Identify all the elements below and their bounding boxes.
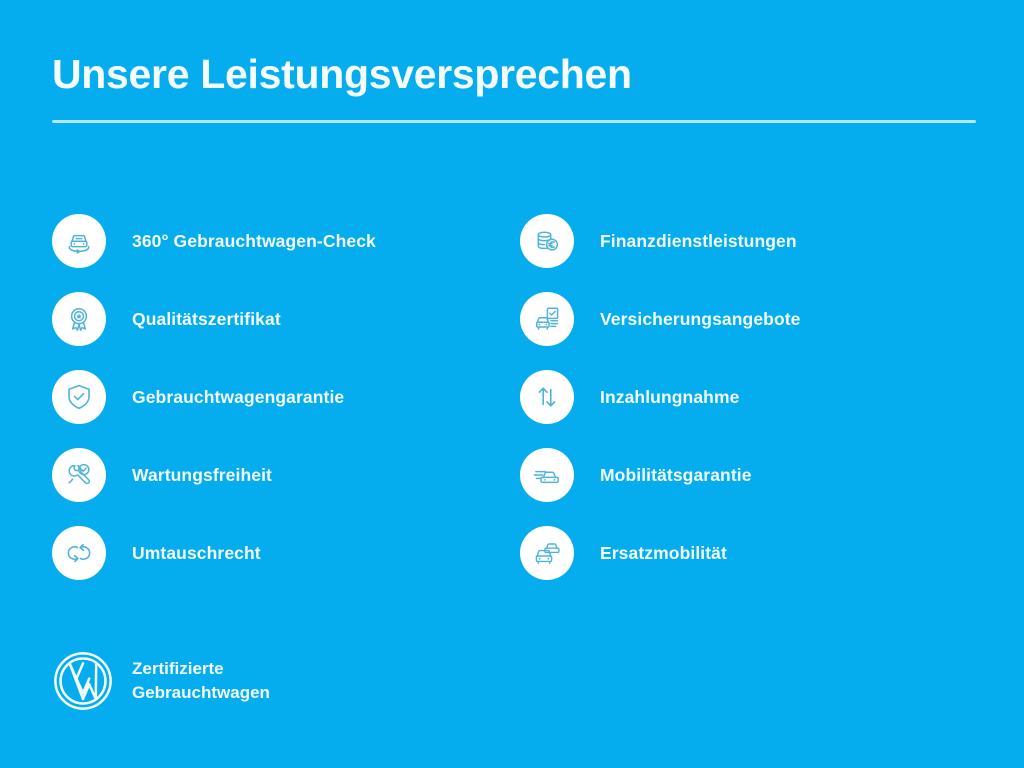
wrench-check-icon: [52, 448, 106, 502]
volkswagen-logo-icon: [52, 650, 114, 712]
two-cars-icon: [520, 526, 574, 580]
feature-grid: 360° Gebrauchtwagen-Check Finanzdienstle…: [52, 202, 982, 592]
page-title: Unsere Leistungsversprechen: [52, 52, 976, 98]
feature-item-used-car-warranty: Gebrauchtwagengarantie: [52, 358, 520, 436]
car-checklist-icon: [520, 292, 574, 346]
feature-label: 360° Gebrauchtwagen-Check: [132, 231, 376, 252]
feature-item-quality-certificate: Qualitätszertifikat: [52, 280, 520, 358]
exchange-arrows-icon: [52, 526, 106, 580]
car-speed-lines-icon: [520, 448, 574, 502]
coins-euro-icon: [520, 214, 574, 268]
feature-item-financial-services: Finanzdienstleistungen: [520, 202, 988, 280]
slide-header: Unsere Leistungsversprechen: [52, 52, 976, 123]
title-divider: [52, 120, 976, 123]
feature-label: Qualitätszertifikat: [132, 309, 281, 330]
feature-label: Gebrauchtwagengarantie: [132, 387, 344, 408]
feature-item-mobility-guarantee: Mobilitätsgarantie: [520, 436, 988, 514]
feature-label: Ersatzmobilität: [600, 543, 727, 564]
award-rosette-icon: [52, 292, 106, 346]
shield-check-icon: [52, 370, 106, 424]
feature-item-trade-in: Inzahlungnahme: [520, 358, 988, 436]
feature-item-360-check: 360° Gebrauchtwagen-Check: [52, 202, 520, 280]
feature-label: Wartungsfreiheit: [132, 465, 272, 486]
brand-line-2: Gebrauchtwagen: [132, 681, 270, 705]
feature-label: Finanzdienstleistungen: [600, 231, 797, 252]
feature-label: Umtauschrecht: [132, 543, 261, 564]
brand-lockup: Zertifizierte Gebrauchtwagen: [52, 650, 270, 712]
feature-label: Inzahlungnahme: [600, 387, 739, 408]
feature-item-exchange-right: Umtauschrecht: [52, 514, 520, 592]
feature-item-maintenance-free: Wartungsfreiheit: [52, 436, 520, 514]
promise-slide: Unsere Leistungsversprechen 360° Gebrauc…: [0, 0, 1024, 768]
brand-text: Zertifizierte Gebrauchtwagen: [132, 657, 270, 705]
car-360-check-icon: [52, 214, 106, 268]
feature-item-replacement-mobility: Ersatzmobilität: [520, 514, 988, 592]
arrows-up-down-icon: [520, 370, 574, 424]
feature-label: Versicherungsangebote: [600, 309, 801, 330]
feature-label: Mobilitätsgarantie: [600, 465, 752, 486]
feature-item-insurance-offers: Versicherungsangebote: [520, 280, 988, 358]
brand-line-1: Zertifizierte: [132, 657, 270, 681]
